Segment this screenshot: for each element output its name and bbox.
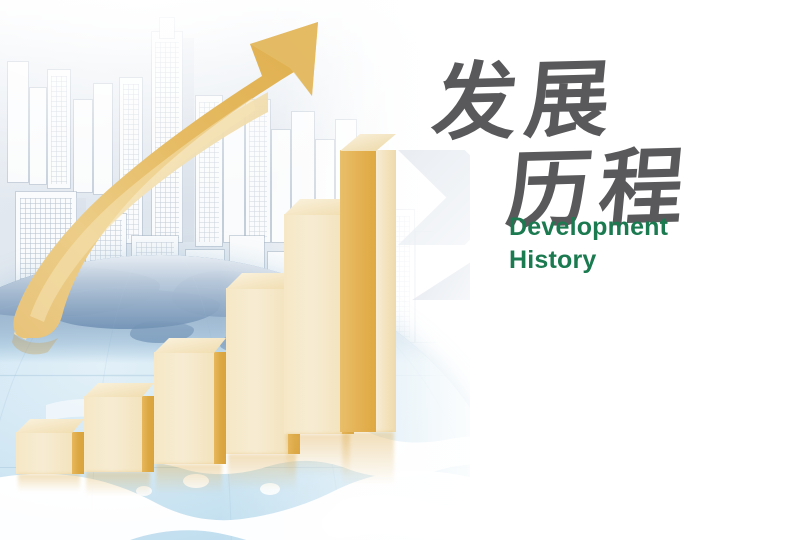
bar-6-tallest xyxy=(340,150,396,432)
bar-6-reflection xyxy=(342,432,394,486)
bar-5-reflection xyxy=(286,434,350,476)
bar-2-reflection xyxy=(86,472,150,496)
bar-side-face xyxy=(214,352,226,464)
bar-1 xyxy=(16,432,84,474)
bar-side-face xyxy=(376,150,396,432)
title-en-line2: History xyxy=(509,244,597,277)
title-en-line1: Development xyxy=(509,211,668,244)
bar-3 xyxy=(154,352,226,464)
bar-2 xyxy=(84,396,154,472)
bar-1-reflection xyxy=(18,474,80,492)
bar-side-face xyxy=(142,396,154,472)
promo-banner: 发展 历程 Development History xyxy=(0,0,800,540)
bottom-right-white-mask xyxy=(400,300,800,540)
bar-side-face xyxy=(72,432,84,474)
bar-3-reflection xyxy=(156,464,222,494)
